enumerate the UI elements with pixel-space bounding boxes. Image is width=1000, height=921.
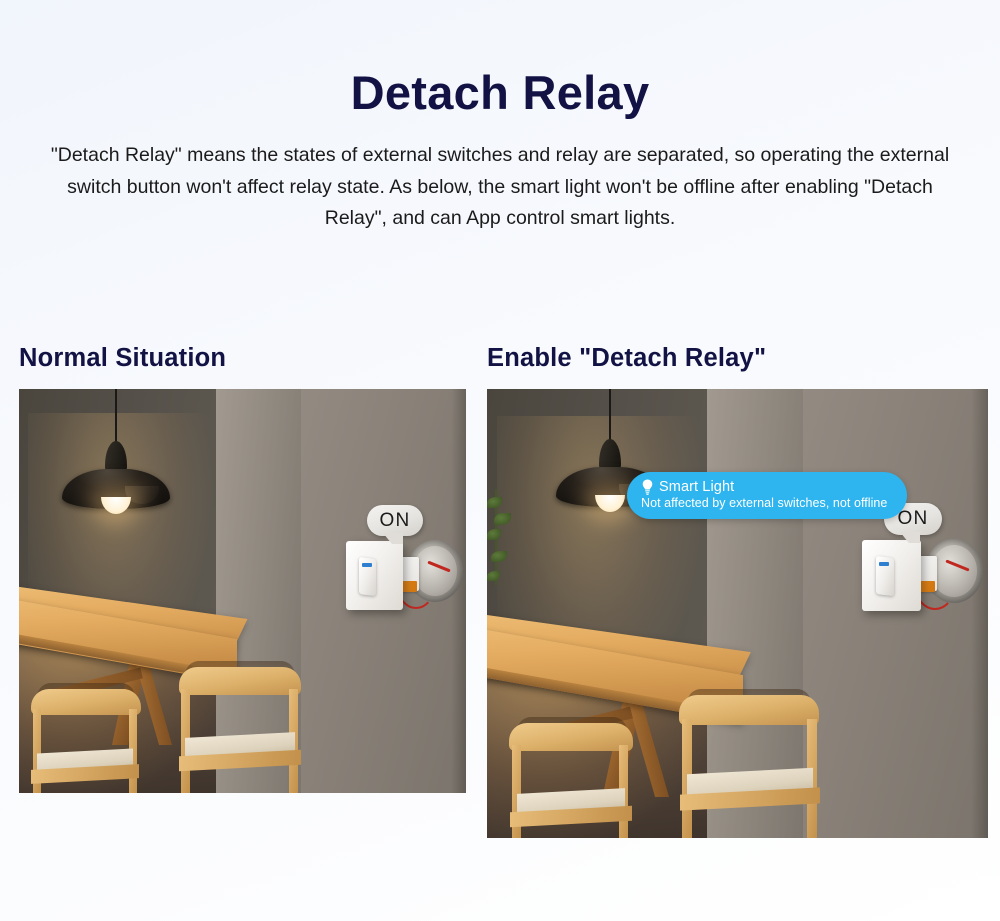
scene-wrap-normal: ON [19,389,466,793]
tooltip-subtitle: Not affected by external switches, not o… [641,496,887,510]
lamp-cord [609,389,611,443]
chair-backrest [179,667,301,695]
tooltip-title: Smart Light [659,479,734,495]
smart-light-tooltip: Smart Light Not affected by external swi… [627,472,907,519]
panel-heading-detach: Enable "Detach Relay" [487,344,988,373]
plant-leaf [487,497,502,508]
plant-leaf [487,571,500,581]
chair-backrest [679,695,819,725]
chair [499,709,643,838]
intro-paragraph: "Detach Relay" means the states of exter… [35,140,965,235]
bubble-tail [900,532,920,543]
tooltip-title-row: Smart Light [641,479,887,495]
plant-leaf [491,551,507,562]
light-bulb [101,497,131,514]
pendant-lamp [41,389,191,517]
potted-plant [487,489,513,585]
panel-normal-situation: Normal Situation [19,344,466,793]
switch-indicator-led [879,562,889,566]
status-bubble-label: ON [380,510,411,532]
wall-switch-plate[interactable] [862,540,921,611]
chair-backrest [509,723,633,751]
plant-leaf [487,529,501,540]
light-bulb-icon [641,479,654,495]
chair [21,675,149,793]
status-bubble-label: ON [898,508,929,530]
comparison-panels: Normal Situation [0,344,1000,904]
switch-indicator-led [362,563,372,567]
chair-backrest [31,689,141,715]
status-bubble-on: ON [367,505,423,536]
plant-leaf [494,513,511,525]
panel-detach-relay: Enable "Detach Relay" [487,344,988,838]
panel-heading-normal: Normal Situation [19,344,466,373]
bubble-tail [383,533,403,544]
chair [667,679,835,838]
scene-image-detach-relay: ON Smart Light Not affected by [487,389,988,838]
chair [167,651,315,793]
scene-wrap-detach: ON Smart Light Not affected by [487,389,988,838]
page-title: Detach Relay [0,0,1000,120]
lamp-cord [115,389,117,445]
scene-image-normal-situation: ON [19,389,466,793]
light-bulb [595,495,625,512]
wall-switch-plate[interactable] [346,541,403,610]
